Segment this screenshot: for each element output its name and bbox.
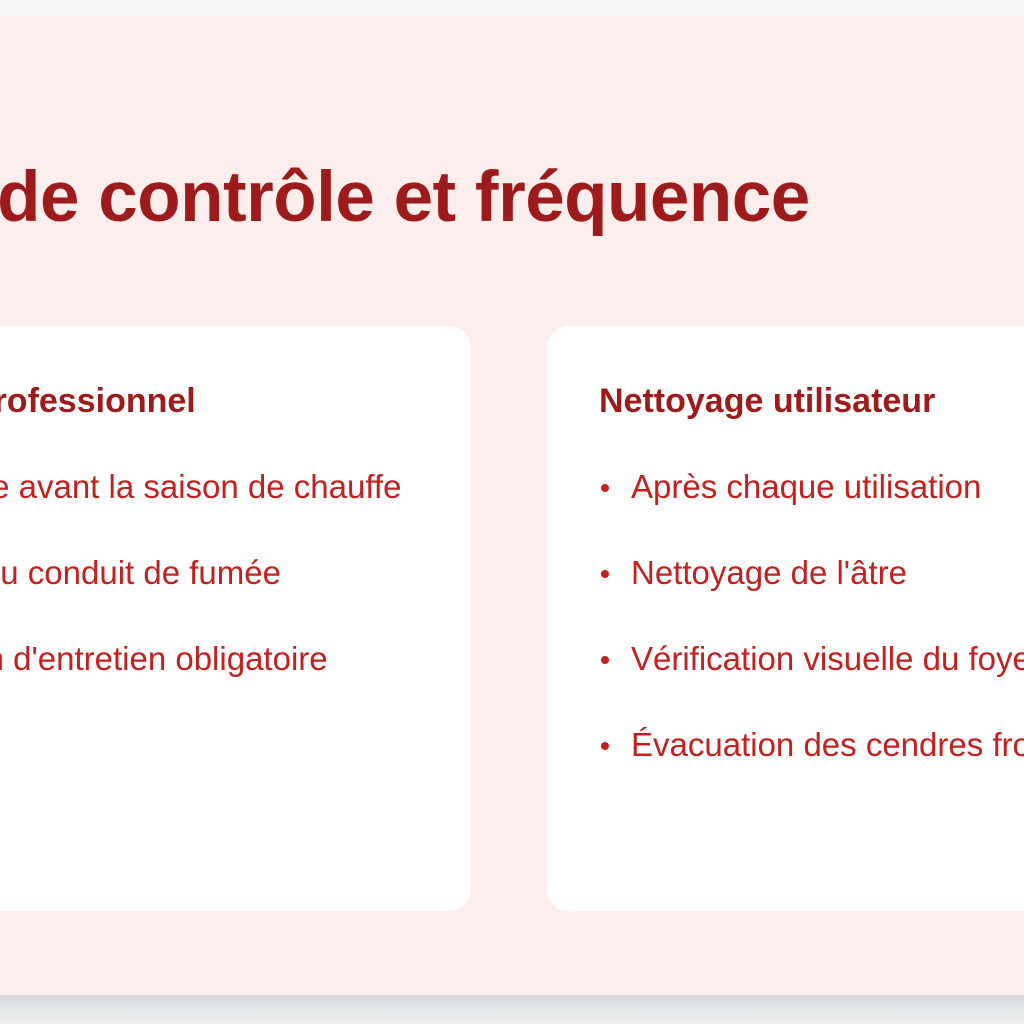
list-item: Ramonage avant la saison de chauffe	[0, 466, 419, 508]
bullet-dot-icon	[601, 656, 609, 664]
list-item-label: Contrôle du conduit de fumée	[0, 554, 281, 591]
list-item: Contrôle du conduit de fumée	[0, 552, 419, 594]
section-title: Points de contrôle et fréquence	[0, 156, 864, 240]
list-item: Évacuation des cendres froides	[599, 724, 1024, 766]
list-item-label: Vérification visuelle du foyer	[631, 640, 1024, 677]
card-grid: Entretien professionnel Ramonage avant l…	[0, 326, 1024, 911]
list-item: Vérification visuelle du foyer	[599, 638, 1024, 680]
bullet-dot-icon	[601, 570, 609, 578]
card-entretien-professionnel: Entretien professionnel Ramonage avant l…	[0, 326, 471, 911]
card-bullet-list: Après chaque utilisation Nettoyage de l'…	[599, 466, 1024, 766]
content-section: Points de contrôle et fréquence Entretie…	[0, 16, 1024, 995]
list-item-label: Après chaque utilisation	[631, 468, 981, 505]
bullet-dot-icon	[601, 484, 609, 492]
card-title: Nettoyage utilisateur	[599, 380, 1024, 422]
list-item-label: Nettoyage de l'âtre	[631, 554, 907, 591]
list-item-label: Attestation d'entretien obligatoire	[0, 640, 328, 677]
page-root: Points de contrôle et fréquence Entretie…	[0, 0, 1024, 1024]
card-title: Entretien professionnel	[0, 380, 419, 422]
bullet-dot-icon	[601, 742, 609, 750]
top-page-strip	[0, 0, 1024, 16]
list-item-label: Évacuation des cendres froides	[631, 726, 1024, 763]
below-fold-area	[0, 995, 1024, 1024]
list-item: Après chaque utilisation	[599, 466, 1024, 508]
card-bullet-list: Ramonage avant la saison de chauffe Cont…	[0, 466, 419, 680]
card-nettoyage-utilisateur: Nettoyage utilisateur Après chaque utili…	[547, 326, 1024, 911]
list-item-label: Ramonage avant la saison de chauffe	[0, 468, 401, 505]
list-item: Attestation d'entretien obligatoire	[0, 638, 419, 680]
list-item: Nettoyage de l'âtre	[599, 552, 1024, 594]
